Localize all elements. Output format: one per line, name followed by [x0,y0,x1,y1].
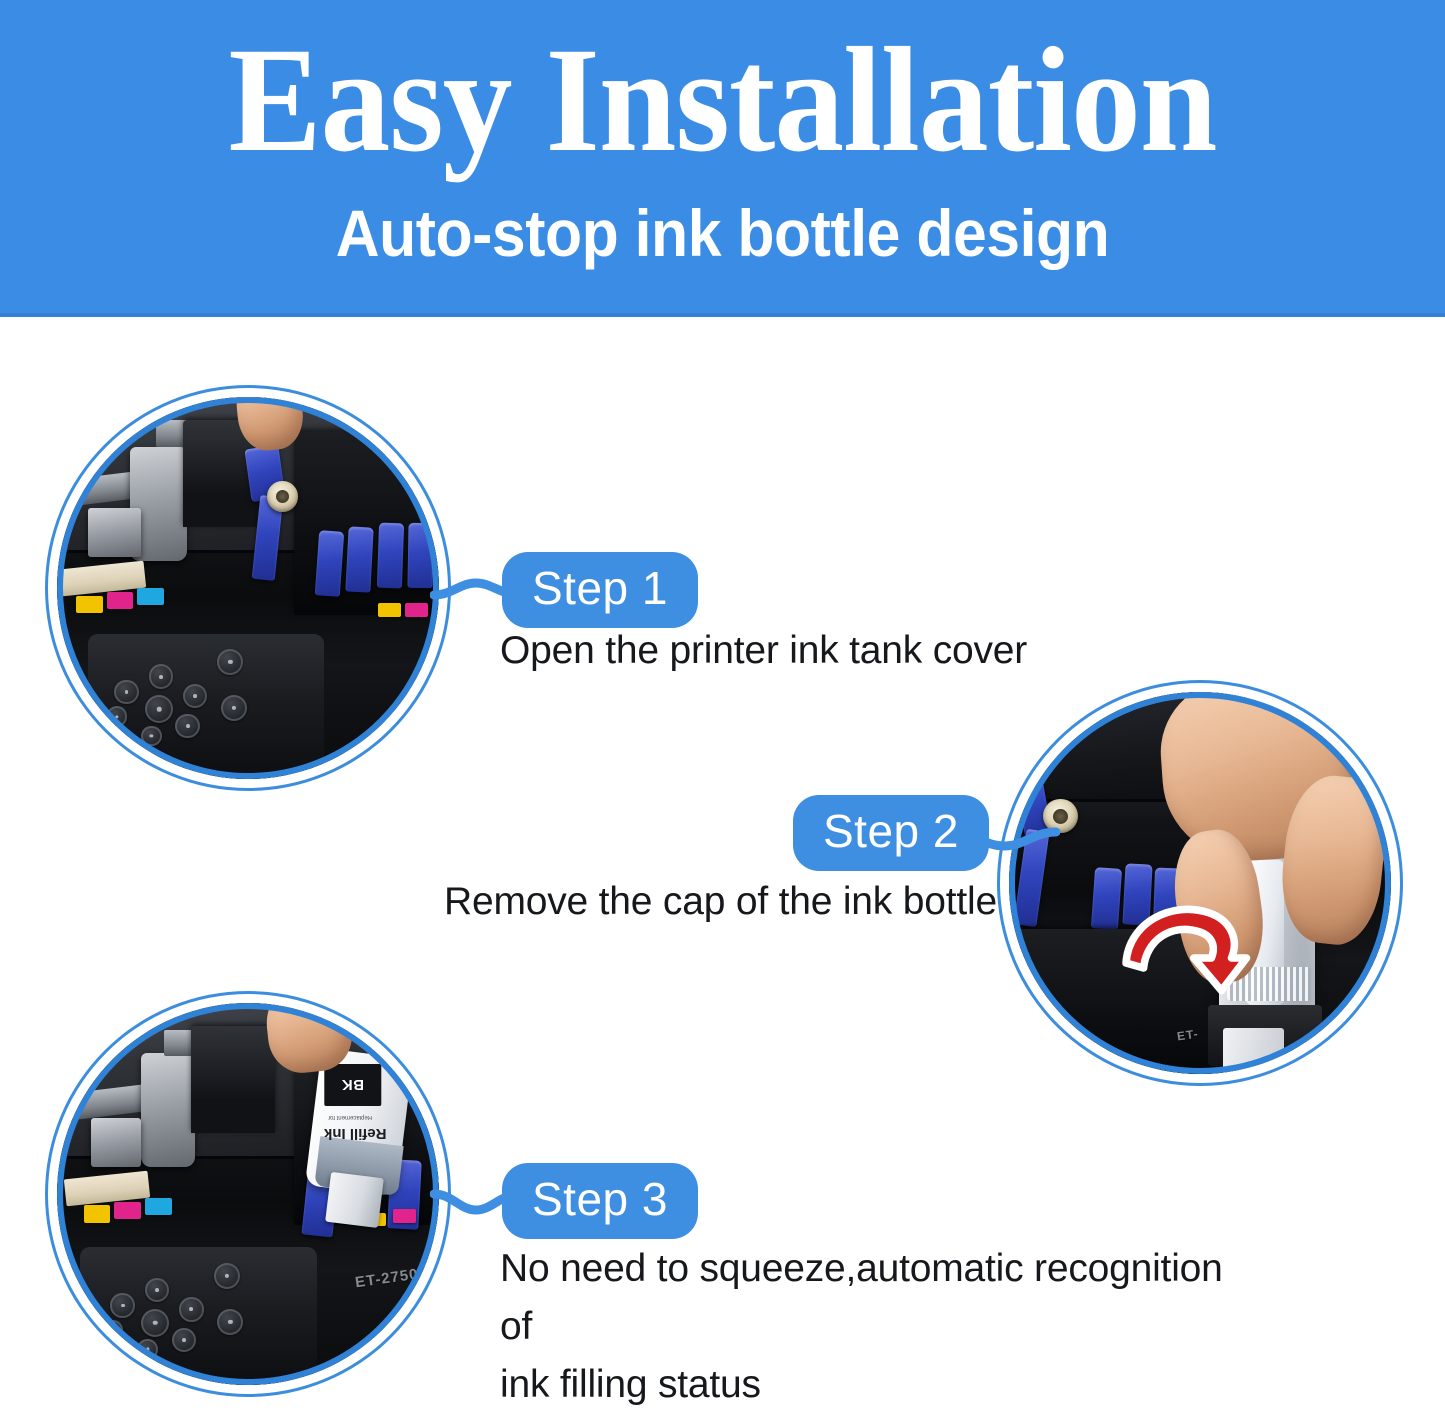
bottle-side-label: Best Quality [386,1064,418,1070]
bottle-bk-label: BK [342,1077,365,1094]
bottle-sub-label: Replacement for [328,1114,372,1120]
step-2-caption: Remove the cap of the ink bottle [444,873,1144,931]
header-banner: Easy Installation Auto-stop ink bottle d… [0,0,1445,317]
step-3-caption: No need to squeeze,automatic recognition… [500,1240,1260,1414]
step-2-pill: Step 2 [793,795,989,871]
bottle-main-label: Refill Ink [324,1125,387,1142]
bottle-bk-badge: BK [324,1064,381,1106]
step-3-pill: Step 3 [502,1163,698,1239]
step-3-photo: BK Best Quality Refill Ink Replacement f… [57,1003,439,1385]
step-1-pill: Step 1 [502,552,698,628]
banner-subtitle: Auto-stop ink bottle design [58,196,1387,270]
step-1-photo [57,397,439,779]
banner-title: Easy Installation [51,18,1395,183]
step-1-caption: Open the printer ink tank cover [500,622,1200,680]
